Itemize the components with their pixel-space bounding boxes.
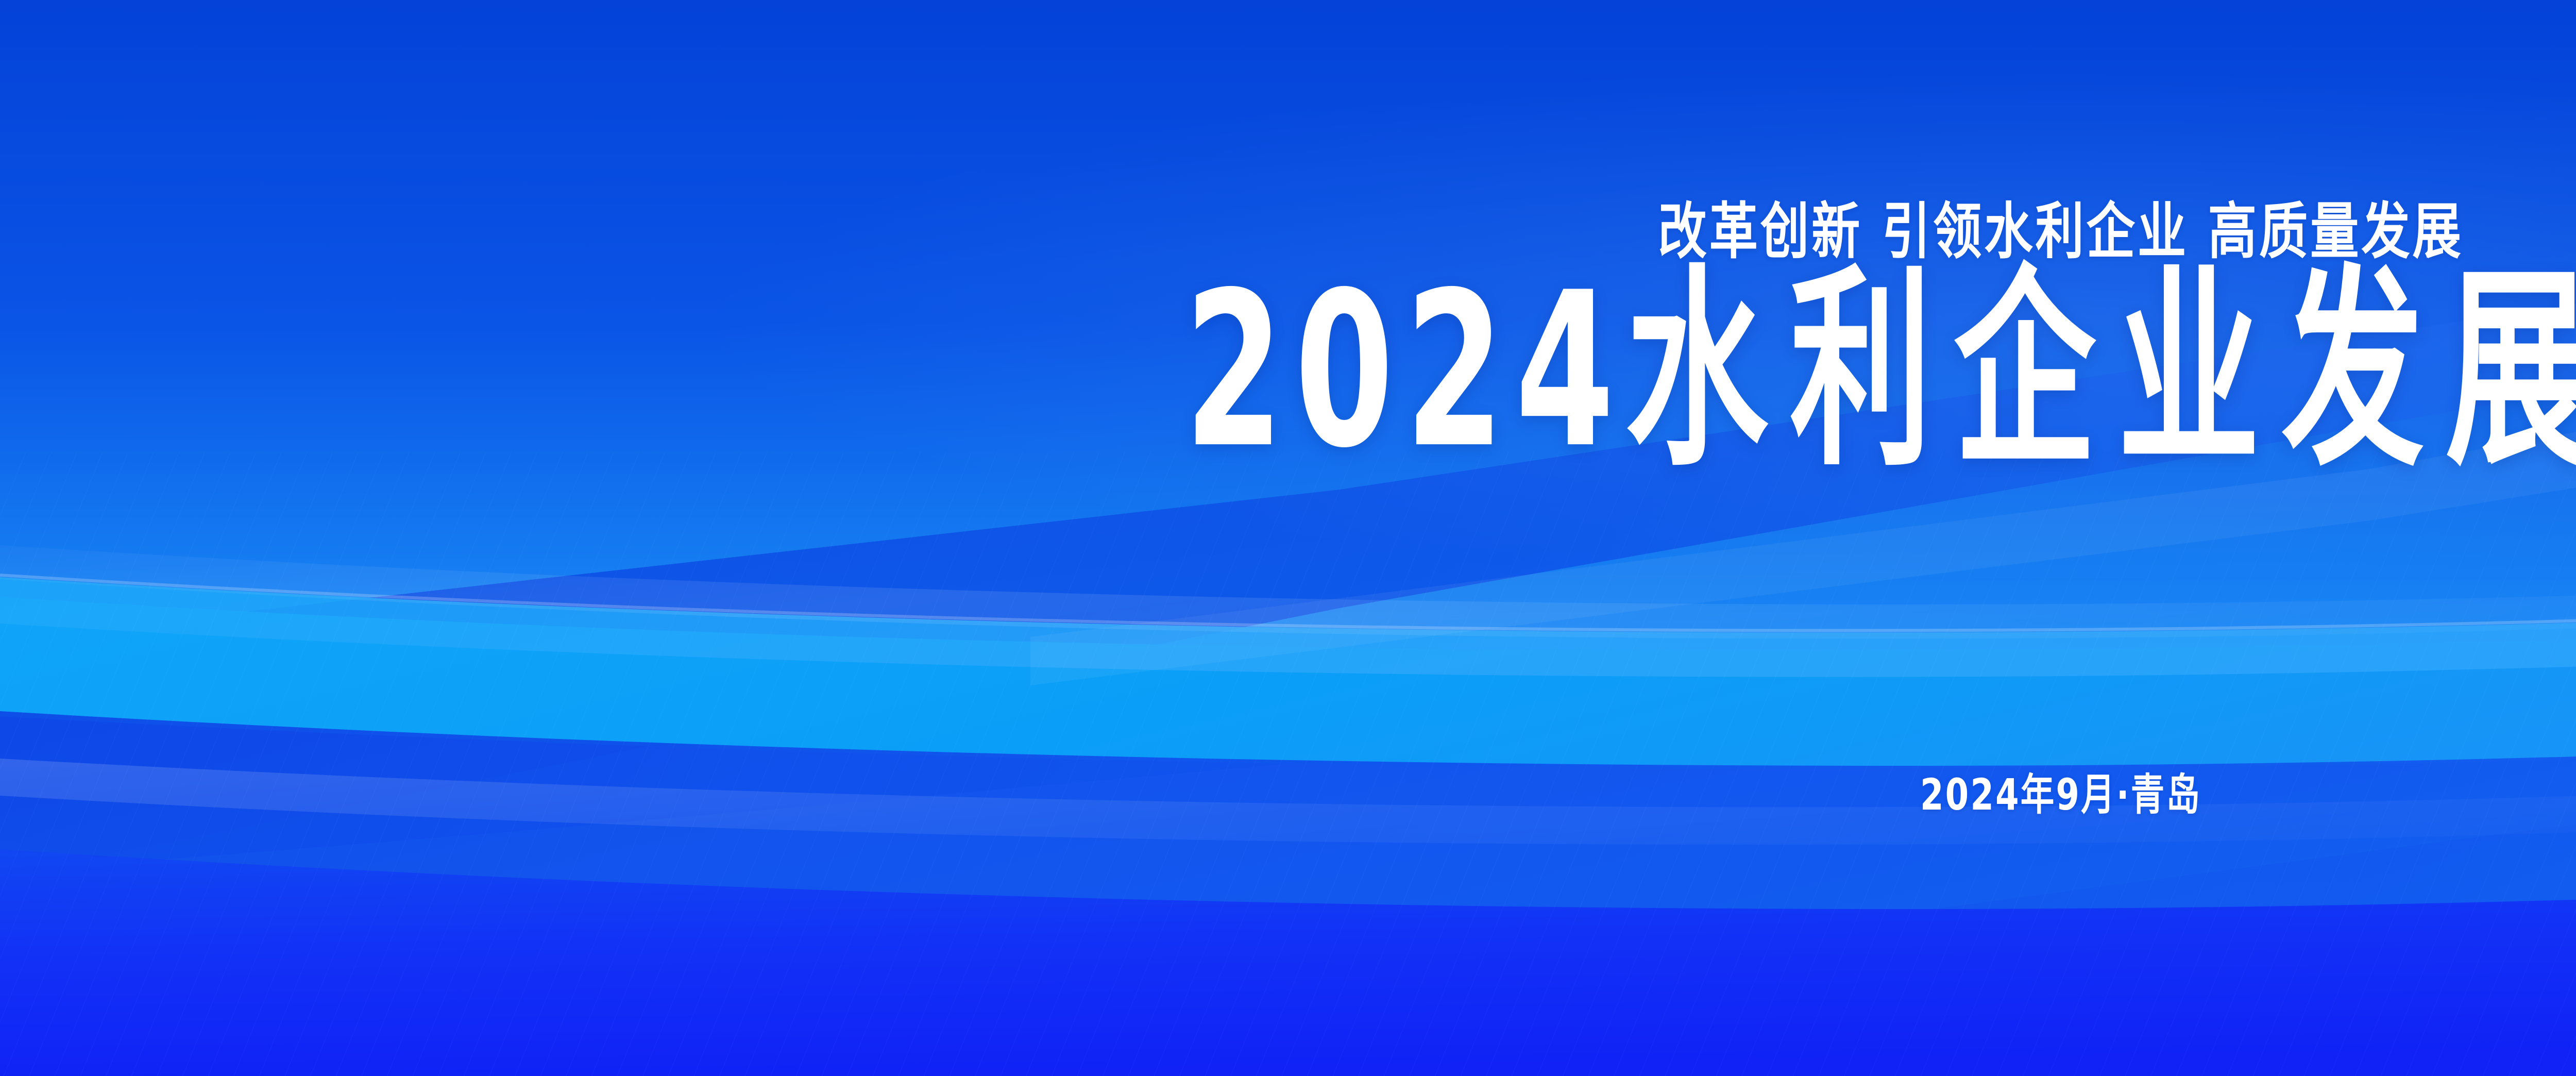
banner-title-main: 水利企业发展论坛	[1625, 247, 2576, 495]
banner-title: 2024水利企业发展论坛	[1184, 264, 2576, 478]
banner-date-location: 2024年9月·青岛	[453, 773, 2576, 816]
forum-banner: 改革创新 引领水利企业 高质量发展 2024水利企业发展论坛 2024年9月·青…	[0, 0, 2576, 1076]
banner-content: 改革创新 引领水利企业 高质量发展 2024水利企业发展论坛 2024年9月·青…	[0, 0, 2576, 1076]
banner-title-year: 2024	[1184, 247, 1625, 495]
